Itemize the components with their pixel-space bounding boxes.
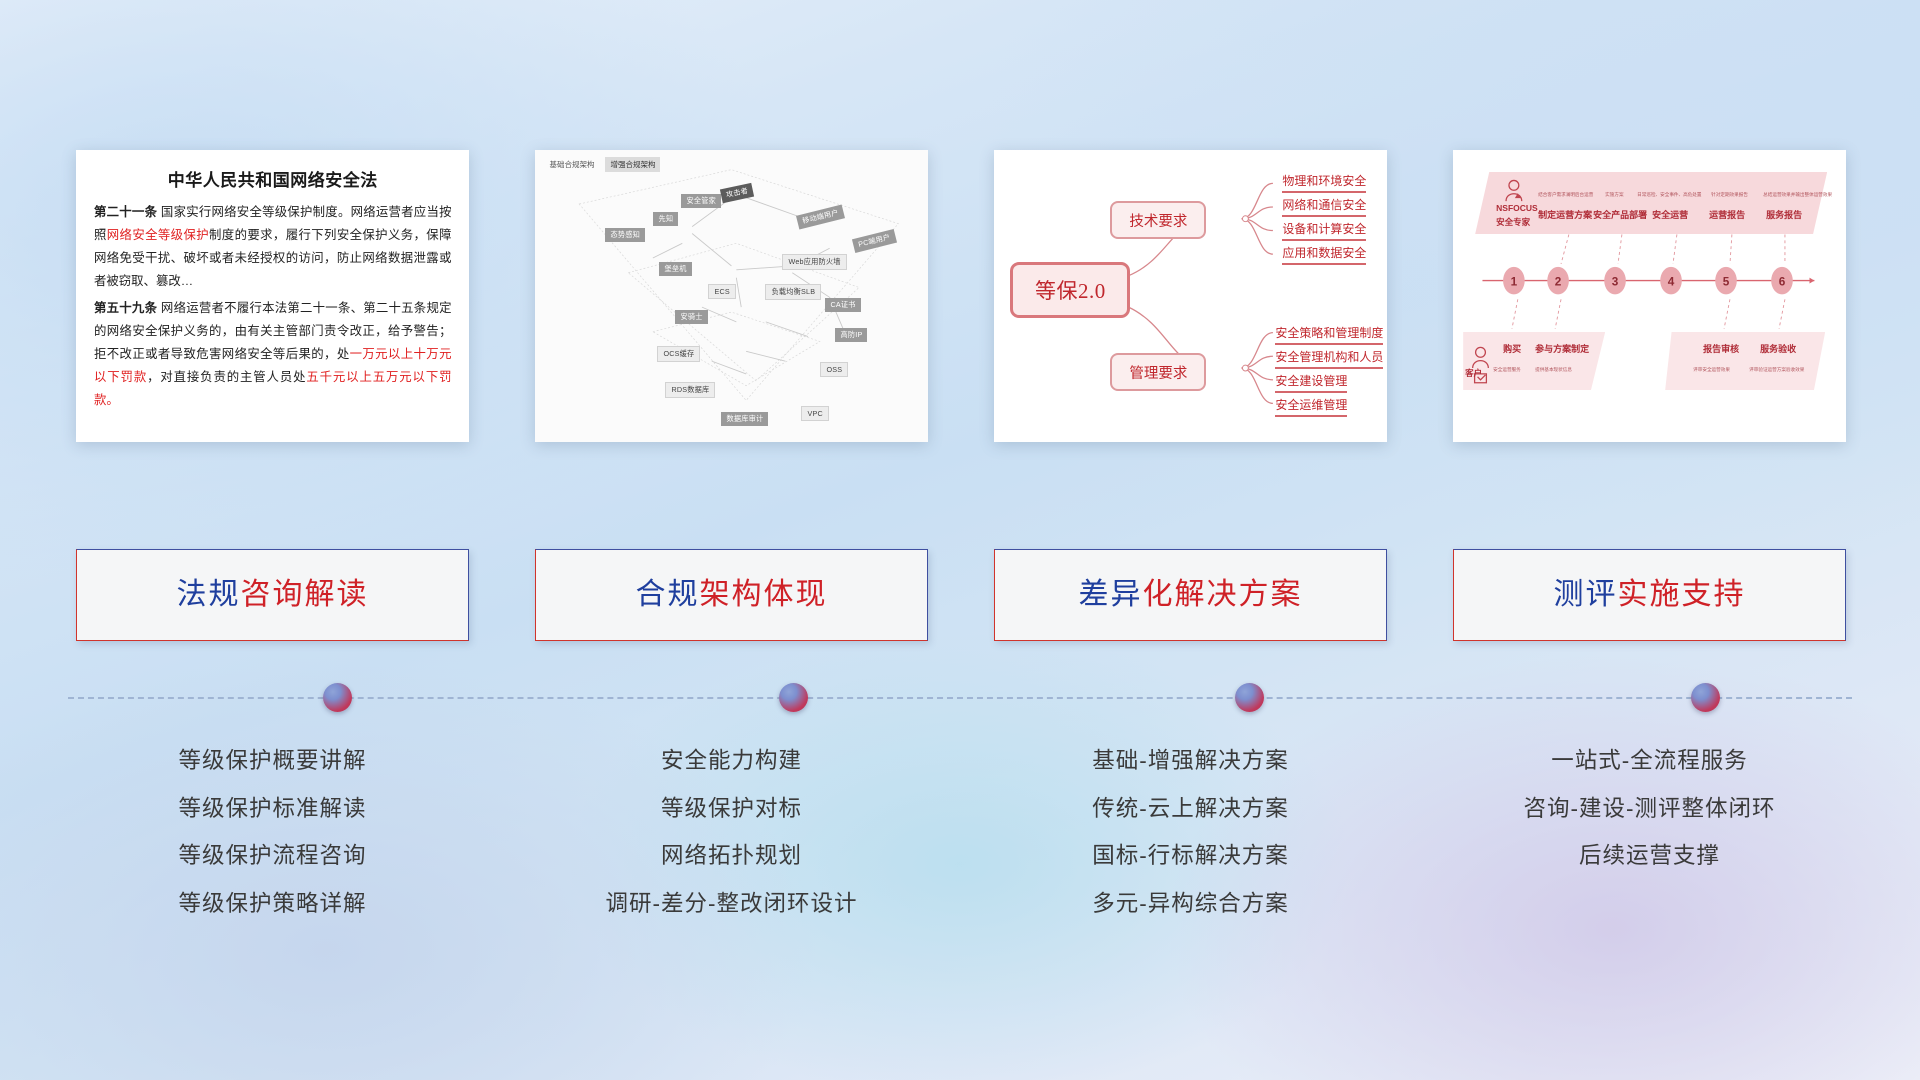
list-item: 基础-增强解决方案 (994, 738, 1387, 786)
article-21-highlight: 网络安全等级保护 (107, 228, 209, 242)
header-4-red: 实施支持 (1618, 578, 1746, 611)
svg-text:1: 1 (1511, 276, 1518, 289)
card-compliance-architecture: 基础合规架构 增强合规架构 攻击者 先知 安全管家 态势感知 堡垒机 EC (535, 150, 928, 442)
header-4-blue: 测评 (1554, 578, 1618, 611)
header-box-differentiated-solution[interactable]: 差异化解决方案 (994, 549, 1387, 641)
timeline-bottom-sub-2: 提供基本现状信息 (1535, 367, 1572, 373)
timeline-strip (68, 697, 1852, 699)
timeline-customer-label: 客户 (1465, 367, 1482, 379)
timeline-top-title-6: 服务报告 (1766, 208, 1802, 221)
node-oss: OSS (820, 362, 848, 377)
strip-dot-4 (1691, 683, 1720, 712)
list-item: 等级保护策略详解 (76, 881, 469, 929)
node-ocs-cache: OCS缓存 (657, 346, 700, 362)
timeline-top-title-4: 安全运营 (1652, 208, 1688, 221)
image-card-row: 中华人民共和国网络安全法 第二十一条 国家实行网络安全等级保护制度。网络运营者应… (76, 150, 1846, 442)
node-ecs: ECS (708, 284, 735, 299)
timeline-top-title-5: 运营报告 (1709, 208, 1745, 221)
header-box-regulation-consulting[interactable]: 法规咨询解读 (76, 549, 469, 641)
article-59-label: 第五十九条 (94, 301, 157, 315)
list-item: 等级保护对标 (535, 786, 928, 834)
list-column-architecture: 安全能力构建 等级保护对标 网络拓扑规划 调研-差分-整改闭环设计 (535, 738, 928, 928)
timeline-bottom-sub-1: 安全运营服务 (1493, 367, 1521, 373)
svg-text:2: 2 (1555, 276, 1562, 289)
timeline-top-sub-6: 总结运营效果并输出整体运营效果 (1763, 192, 1832, 198)
detail-lists-row: 等级保护概要讲解 等级保护标准解读 等级保护流程咨询 等级保护策略详解 安全能力… (76, 738, 1846, 928)
svg-text:3: 3 (1612, 276, 1619, 289)
strip-dot-2 (779, 683, 808, 712)
mindmap-leaf-physical-env: 物理和环境安全 (1282, 172, 1366, 193)
list-item: 等级保护流程咨询 (76, 833, 469, 881)
strip-dot-1 (323, 683, 352, 712)
timeline-brand: NSFOCUS (1496, 203, 1538, 213)
list-item: 多元-异构综合方案 (994, 881, 1387, 929)
header-1-blue: 法规 (177, 578, 241, 611)
header-label-4: 测评实施支持 (1554, 580, 1746, 610)
list-item: 网络拓扑规划 (535, 833, 928, 881)
mindmap-leaf-policy-system: 安全策略和管理制度 (1275, 324, 1383, 345)
card-mindmap-dengbao: 等保2.0 技术要求 物理和环境安全 网络和通信安全 设备和计算安全 应用和数据… (994, 150, 1387, 442)
mindmap-leaf-device-compute: 设备和计算安全 (1282, 220, 1366, 241)
list-column-evaluation: 一站式-全流程服务 咨询-建设-测评整体闭环 后续运营支撑 (1453, 738, 1846, 928)
svg-text:5: 5 (1723, 276, 1730, 289)
timeline-top-title-3: 安全产品部署 (1593, 208, 1647, 221)
list-column-regulation: 等级保护概要讲解 等级保护标准解读 等级保护流程咨询 等级保护策略详解 (76, 738, 469, 928)
header-3-blue: 差异 (1079, 578, 1143, 611)
strip-dot-3 (1235, 683, 1264, 712)
timeline-top-sub-5: 针对定期效果报告 (1711, 192, 1748, 198)
timeline-top-title-2: 制定运营方案 (1538, 208, 1592, 221)
node-ca-cert: CA证书 (825, 298, 860, 312)
node-anqishi: 安骑士 (675, 310, 707, 324)
header-label-2: 合规架构体现 (636, 580, 828, 610)
mindmap-leaf-app-data: 应用和数据安全 (1282, 244, 1366, 265)
list-item: 一站式-全流程服务 (1453, 738, 1846, 786)
list-item: 调研-差分-整改闭环设计 (535, 881, 928, 929)
node-taishiganzhi: 态势感知 (605, 228, 645, 242)
list-item: 后续运营支撑 (1453, 833, 1846, 881)
list-item: 咨询-建设-测评整体闭环 (1453, 786, 1846, 834)
list-item: 安全能力构建 (535, 738, 928, 786)
card-service-timeline: 123 456 NSFOCUS 安全专家 客户 结合客户需求澜明后台运营 制定运… (1453, 150, 1846, 442)
mindmap-branch-technical: 技术要求 (1110, 201, 1206, 239)
list-item: 等级保护概要讲解 (76, 738, 469, 786)
timeline-bottom-title-5: 报告审核 (1703, 342, 1739, 355)
timeline-bottom-sub-5: 评审安全运营效果 (1693, 367, 1730, 373)
card-cybersecurity-law: 中华人民共和国网络安全法 第二十一条 国家实行网络安全等级保护制度。网络运营者应… (76, 150, 469, 442)
timeline-top-sub-4: 日常巡检、安全事件、高危处置 (1637, 192, 1701, 198)
node-anquanguanjia: 安全管家 (681, 194, 721, 208)
mindmap-branch-management: 管理要求 (1110, 353, 1206, 391)
mindmap-leaf-org-personnel: 安全管理机构和人员 (1275, 348, 1383, 369)
node-waf: Web应用防火墙 (782, 254, 846, 270)
node-baoleiji: 堡垒机 (659, 262, 691, 276)
header-2-red: 架构体现 (700, 578, 828, 611)
node-slb: 负载均衡SLB (765, 284, 821, 300)
node-vpc: VPC (801, 406, 828, 421)
node-rds-db: RDS数据库 (665, 382, 715, 398)
timeline-bottom-title-2: 参与方案制定 (1535, 342, 1589, 355)
header-label-3: 差异化解决方案 (1079, 580, 1303, 610)
list-item: 传统-云上解决方案 (994, 786, 1387, 834)
mindmap-leaf-construction-mgmt: 安全建设管理 (1275, 372, 1347, 393)
header-box-evaluation-support[interactable]: 测评实施支持 (1453, 549, 1846, 641)
section-header-row: 法规咨询解读 合规架构体现 差异化解决方案 测评实施支持 (76, 549, 1846, 641)
list-item: 国标-行标解决方案 (994, 833, 1387, 881)
law-article-59: 第五十九条 网络运营者不履行本法第二十一条、第二十五条规定的网络安全保护义务的，… (94, 297, 451, 412)
timeline-bottom-title-6: 服务验收 (1760, 342, 1796, 355)
timeline-bottom-sub-6: 评审验证运营方案验收效果 (1749, 367, 1804, 373)
header-2-blue: 合规 (636, 578, 700, 611)
mindmap-leaf-ops-mgmt: 安全运维管理 (1275, 396, 1347, 417)
node-db-audit: 数据库审计 (721, 412, 768, 426)
article-21-label: 第二十一条 (94, 205, 157, 219)
svg-text:4: 4 (1668, 276, 1675, 289)
timeline-top-sub-2: 结合客户需求澜明后台运营 (1538, 192, 1593, 198)
timeline-bottom-title-1: 购买 (1503, 342, 1521, 355)
svg-text:6: 6 (1779, 276, 1786, 289)
list-column-solution: 基础-增强解决方案 传统-云上解决方案 国标-行标解决方案 多元-异构综合方案 (994, 738, 1387, 928)
list-item: 等级保护标准解读 (76, 786, 469, 834)
header-1-red: 咨询解读 (241, 578, 369, 611)
node-anti-ddos-ip: 高防IP (835, 328, 867, 342)
mindmap-leaf-network-comm: 网络和通信安全 (1282, 196, 1366, 217)
law-article-21: 第二十一条 国家实行网络安全等级保护制度。网络运营者应当按照网络安全等级保护制度… (94, 201, 451, 293)
header-box-compliance-architecture[interactable]: 合规架构体现 (535, 549, 928, 641)
mindmap-root-node: 等保2.0 (1010, 262, 1130, 318)
node-xianzhi: 先知 (653, 212, 678, 226)
timeline-brand-sub: 安全专家 (1496, 216, 1530, 228)
law-title: 中华人民共和国网络安全法 (94, 166, 451, 191)
header-3-red: 化解决方案 (1143, 578, 1303, 611)
timeline-top-sub-3: 实施方案 (1605, 192, 1623, 198)
header-label-1: 法规咨询解读 (177, 580, 369, 610)
article-59-text-b: ，对直接负责的主管人员处 (147, 370, 306, 384)
